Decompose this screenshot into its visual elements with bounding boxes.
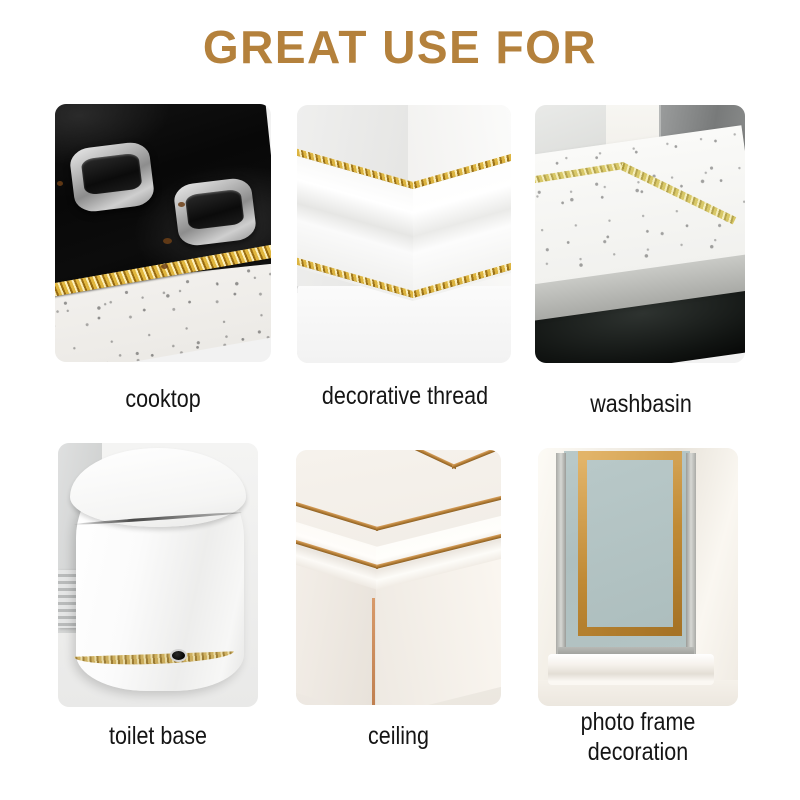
page-title: GREAT USE FOR [0,22,800,73]
tile-photo-frame-decoration[interactable] [538,448,738,706]
frame-sill [548,654,714,685]
caption-ceiling: ceiling [310,722,486,752]
caption-photo-frame-decoration: photo frame decoration [552,708,724,767]
tile-ceiling[interactable] [296,450,501,705]
tile-toilet-base[interactable] [58,443,258,707]
caption-decorative-thread: decorative thread [298,382,513,412]
corner-trim-line [372,598,375,705]
gold-inner-frame [578,451,682,637]
cooktop-knob [172,177,257,248]
caption-toilet-base: toilet base [72,722,244,752]
frame-bevel-right [686,453,696,675]
toilet-button [170,649,187,662]
tile-decorative-thread[interactable] [297,105,511,363]
tile-washbasin[interactable] [535,105,745,363]
promo-page: GREAT USE FOR cooktop decorative thread [0,0,800,800]
caption-cooktop: cooktop [70,385,256,415]
crumb-speck [161,264,168,269]
caption-washbasin: washbasin [550,390,732,420]
cooktop-knob [69,141,156,214]
tile-cooktop[interactable] [55,104,271,362]
